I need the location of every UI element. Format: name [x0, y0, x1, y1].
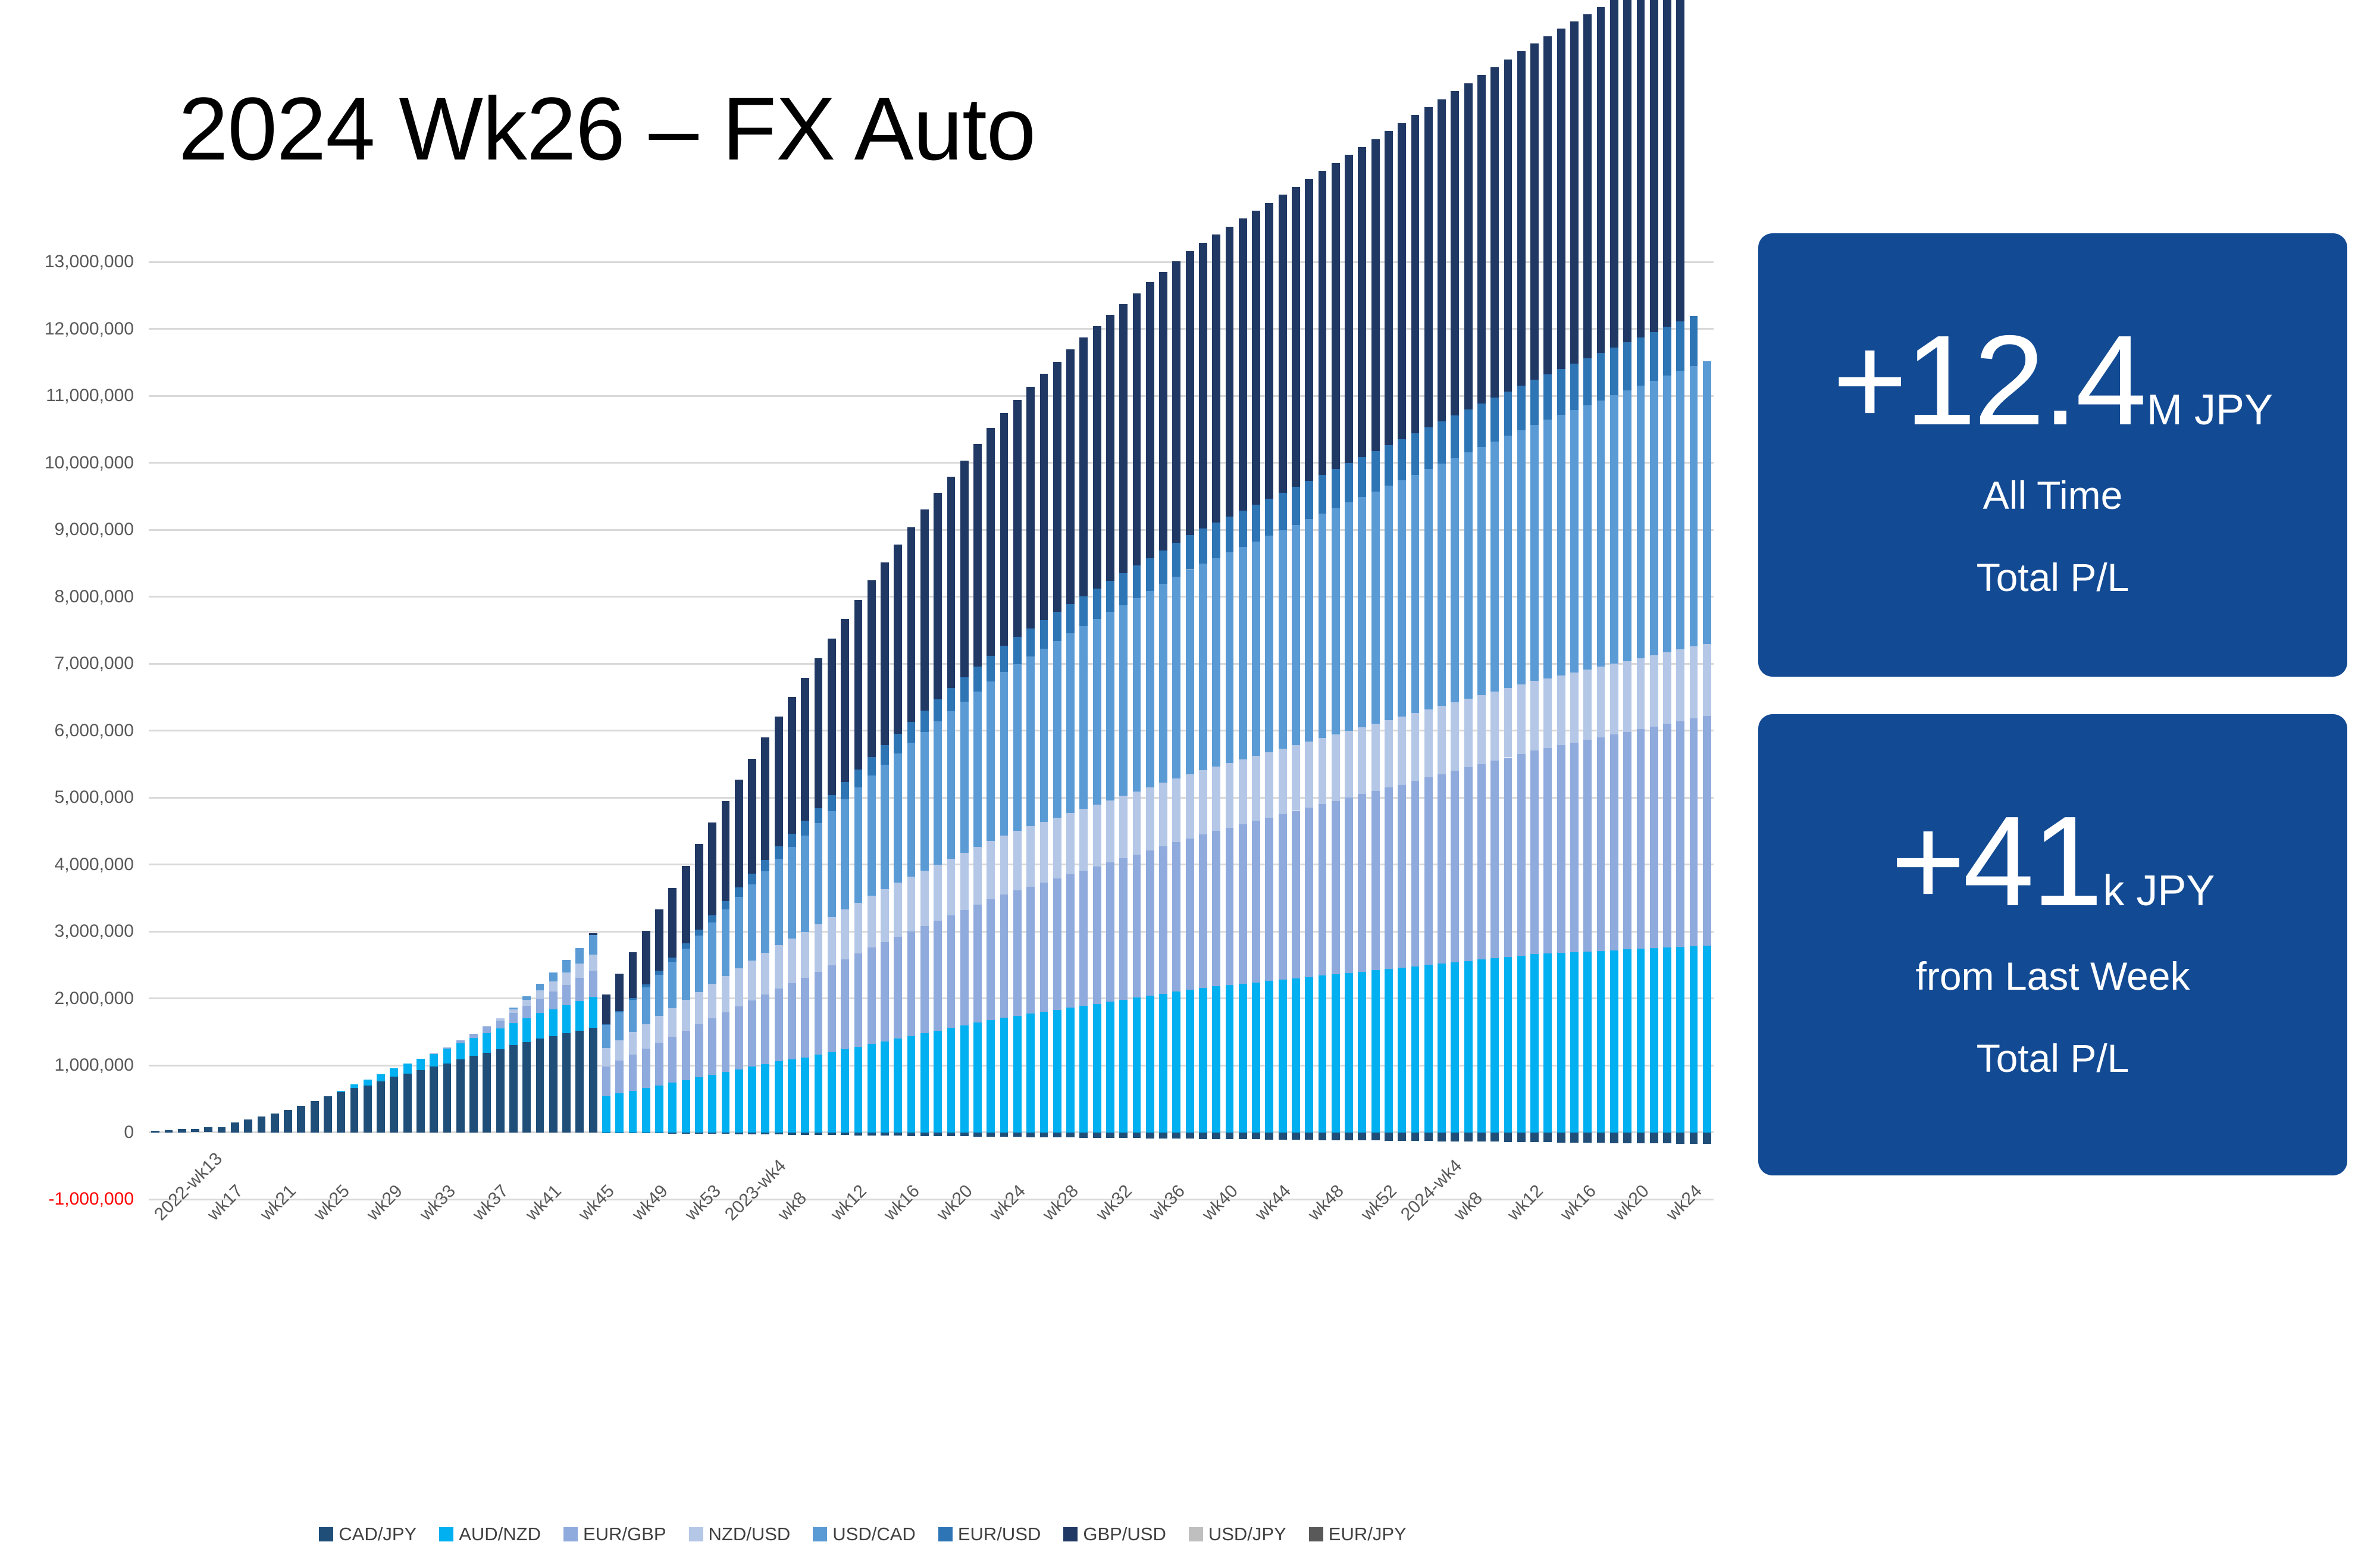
bar-segment	[1570, 743, 1579, 952]
bar-segment	[1637, 0, 1645, 337]
bar-column[interactable]	[947, 262, 956, 1199]
bar-column[interactable]	[1000, 262, 1009, 1199]
legend-item[interactable]: USD/JPY	[1189, 1524, 1286, 1545]
bar-column[interactable]	[1265, 262, 1273, 1199]
bar-segment	[748, 1000, 756, 1067]
bar-column[interactable]	[1345, 262, 1353, 1199]
bar-column[interactable]	[655, 262, 663, 1199]
bar-column[interactable]	[430, 262, 438, 1199]
bar-segment	[801, 978, 809, 1058]
bar-segment	[1676, 371, 1684, 649]
bar-column[interactable]	[258, 262, 266, 1199]
bar-segment	[483, 1053, 491, 1133]
bar-segment	[801, 836, 809, 932]
bar-column[interactable]	[284, 262, 292, 1199]
legend-label: AUD/NZD	[459, 1524, 541, 1545]
bar-segment	[987, 841, 995, 899]
bar-segment	[868, 896, 876, 947]
bar-column[interactable]	[1146, 262, 1154, 1199]
bar-segment	[1133, 293, 1141, 566]
bar-segment	[1650, 655, 1658, 727]
bar-column[interactable]	[1358, 262, 1366, 1199]
kpi-card-last-week[interactable]: +41 k JPY from Last Week Total P/L	[1758, 714, 2347, 1175]
bar-column[interactable]	[1663, 262, 1671, 1199]
bar-segment	[1133, 997, 1141, 1132]
bar-column[interactable]	[1013, 262, 1022, 1199]
bar-segment	[1676, 0, 1684, 321]
bar-column[interactable]	[1477, 262, 1486, 1199]
bar-segment	[1570, 673, 1579, 743]
bar-segment	[1597, 951, 1605, 1133]
bar-column[interactable]	[443, 262, 452, 1199]
bar-column[interactable]	[960, 262, 969, 1199]
legend-item[interactable]: CAD/JPY	[319, 1524, 416, 1545]
bar-segment	[1119, 304, 1128, 573]
bar-column[interactable]	[708, 262, 716, 1199]
bar-column[interactable]	[1106, 262, 1114, 1199]
bar-segment	[1557, 1133, 1565, 1143]
bar-segment	[1013, 664, 1022, 831]
bar-column[interactable]	[761, 262, 769, 1199]
bar-segment	[1703, 644, 1711, 716]
bar-segment	[1490, 958, 1499, 1133]
bar-column[interactable]	[1026, 262, 1035, 1199]
bar-segment	[1424, 107, 1433, 427]
bar-column[interactable]	[549, 262, 558, 1199]
bar-column[interactable]	[337, 262, 345, 1199]
bar-column[interactable]	[509, 262, 518, 1199]
bar-column[interactable]	[1543, 262, 1552, 1199]
bar-segment	[1477, 75, 1486, 403]
bar-column[interactable]	[1650, 262, 1658, 1199]
bar-segment	[629, 1133, 637, 1134]
legend-item[interactable]: EUR/GBP	[563, 1524, 666, 1545]
bar-segment	[416, 1059, 425, 1070]
bar-segment	[1464, 961, 1473, 1133]
bar-column[interactable]	[403, 262, 412, 1199]
bar-segment	[1305, 977, 1313, 1133]
bar-segment	[1663, 652, 1671, 724]
bar-column[interactable]	[1239, 262, 1247, 1199]
bar-segment	[1385, 131, 1393, 445]
bar-column[interactable]	[642, 262, 650, 1199]
bar-segment	[244, 1119, 252, 1132]
bar-segment	[708, 915, 716, 922]
bar-segment	[1226, 517, 1234, 552]
bar-column[interactable]	[1172, 262, 1180, 1199]
bar-segment	[907, 1036, 916, 1133]
bar-segment	[735, 897, 743, 968]
bar-segment	[575, 964, 584, 978]
bar-column[interactable]	[1703, 262, 1711, 1199]
bar-segment	[1252, 756, 1260, 821]
bar-segment	[297, 1106, 305, 1132]
bar-column[interactable]	[602, 262, 610, 1199]
bar-segment	[1610, 1133, 1618, 1143]
bar-segment	[1477, 764, 1486, 960]
bar-segment	[735, 968, 743, 1006]
bar-segment	[1146, 850, 1154, 996]
bar-column[interactable]	[1504, 262, 1512, 1199]
bar-segment	[191, 1129, 199, 1132]
bar-column[interactable]	[987, 262, 995, 1199]
bar-column[interactable]	[1371, 262, 1380, 1199]
bar-segment	[775, 989, 783, 1062]
bar-segment	[1703, 946, 1711, 1133]
bar-segment	[443, 1049, 452, 1063]
bar-column[interactable]	[350, 262, 359, 1199]
bar-segment	[722, 1133, 730, 1134]
bar-segment	[1000, 836, 1009, 895]
bar-column[interactable]	[1424, 262, 1433, 1199]
bar-segment	[602, 1067, 610, 1096]
bar-segment	[1305, 179, 1313, 481]
bar-column[interactable]	[244, 262, 252, 1199]
bar-column[interactable]	[1159, 262, 1167, 1199]
bar-segment	[1530, 43, 1539, 380]
bar-segment	[390, 1068, 398, 1077]
bar-segment	[1040, 822, 1048, 883]
bar-segment	[1464, 409, 1473, 453]
bar-column[interactable]	[1053, 262, 1061, 1199]
bar-segment	[1292, 187, 1300, 487]
bar-column[interactable]	[456, 262, 465, 1199]
bar-column[interactable]	[416, 262, 425, 1199]
bar-column[interactable]	[615, 262, 624, 1199]
bar-segment	[1106, 862, 1114, 1002]
bar-column[interactable]	[1557, 262, 1565, 1199]
bar-segment	[1543, 1133, 1552, 1143]
bar-column[interactable]	[1332, 262, 1340, 1199]
bar-segment	[642, 931, 650, 984]
bar-column[interactable]	[165, 262, 173, 1199]
bar-column[interactable]	[191, 262, 199, 1199]
bar-column[interactable]	[271, 262, 279, 1199]
bar-segment	[1079, 626, 1088, 809]
bar-segment	[1557, 745, 1565, 953]
bar-column[interactable]	[562, 262, 571, 1199]
bar-segment	[1398, 123, 1406, 439]
bar-column[interactable]	[1279, 262, 1287, 1199]
bar-segment	[973, 692, 982, 847]
bar-column[interactable]	[854, 262, 863, 1199]
x-axis: 2022-wk13wk17wk21wk25wk29wk33wk37wk41wk4…	[149, 1202, 1714, 1339]
bar-segment	[1676, 321, 1684, 371]
bar-column[interactable]	[828, 262, 836, 1199]
bar-column[interactable]	[1385, 262, 1393, 1199]
bar-segment	[1345, 502, 1353, 731]
bar-segment	[1570, 21, 1579, 364]
bar-segment	[1623, 732, 1631, 950]
bar-segment	[1451, 962, 1459, 1133]
bar-segment	[602, 1025, 610, 1048]
bar-column[interactable]	[218, 262, 226, 1199]
bar-segment	[1066, 1008, 1075, 1132]
bar-segment	[1186, 990, 1194, 1133]
bar-column[interactable]	[682, 262, 690, 1199]
bar-segment	[1345, 797, 1353, 973]
bar-column[interactable]	[815, 262, 823, 1199]
bar-segment	[1637, 386, 1645, 658]
kpi-value: +41	[1891, 803, 2101, 919]
bar-segment	[509, 1008, 518, 1009]
bar-column[interactable]	[1490, 262, 1499, 1199]
kpi-value-row: +41 k JPY	[1891, 803, 2215, 919]
bar-column[interactable]	[178, 262, 186, 1199]
bar-segment	[377, 1074, 385, 1081]
bar-column[interactable]	[1517, 262, 1526, 1199]
bar-segment	[1292, 745, 1300, 811]
bar-segment	[377, 1081, 385, 1133]
bar-column[interactable]	[1252, 262, 1260, 1199]
bar-column[interactable]	[1530, 262, 1539, 1199]
bar-segment	[509, 1009, 518, 1014]
bar-segment	[655, 1043, 663, 1086]
bar-segment	[960, 1133, 969, 1137]
legend-item[interactable]: GBP/USD	[1063, 1524, 1166, 1545]
bar-column[interactable]	[748, 262, 756, 1199]
bar-segment	[987, 428, 995, 656]
bar-segment	[1583, 1133, 1592, 1143]
bar-segment	[655, 975, 663, 1017]
bar-column[interactable]	[1610, 262, 1618, 1199]
bar-segment	[549, 972, 558, 982]
bar-column[interactable]	[1079, 262, 1088, 1199]
bar-column[interactable]	[151, 262, 159, 1199]
bar-segment	[1570, 410, 1579, 673]
bar-segment	[1543, 36, 1552, 374]
bar-column[interactable]	[575, 262, 584, 1199]
bar-segment	[403, 1074, 412, 1133]
bar-segment	[1424, 777, 1433, 965]
bar-segment	[708, 1018, 716, 1075]
bar-segment	[788, 1059, 796, 1133]
bar-segment	[1026, 628, 1035, 656]
bar-segment	[1093, 326, 1101, 589]
bar-column[interactable]	[589, 262, 597, 1199]
bar-column[interactable]	[1690, 262, 1698, 1199]
bar-segment	[1411, 1133, 1420, 1141]
bar-segment	[1026, 1133, 1035, 1137]
bar-segment	[1451, 415, 1459, 458]
bar-column[interactable]	[629, 262, 637, 1199]
bar-segment	[1199, 988, 1207, 1133]
bar-column[interactable]	[907, 262, 916, 1199]
bar-segment	[1053, 1010, 1061, 1133]
bar-segment	[708, 1133, 716, 1134]
bar-segment	[1053, 1133, 1061, 1138]
bar-segment	[748, 884, 756, 961]
bar-column[interactable]	[722, 262, 730, 1199]
bar-segment	[1265, 1133, 1273, 1140]
bar-segment	[907, 722, 916, 743]
bar-segment	[522, 1000, 531, 1006]
bar-column[interactable]	[536, 262, 544, 1199]
bar-segment	[1490, 692, 1499, 761]
legend-item[interactable]: USD/CAD	[813, 1524, 916, 1545]
bar-segment	[1133, 792, 1141, 855]
bar-segment	[1013, 1016, 1022, 1133]
bar-segment	[1570, 1133, 1579, 1143]
bar-column[interactable]	[1066, 262, 1075, 1199]
legend-item[interactable]: EUR/USD	[938, 1524, 1041, 1545]
page-title: 2024 Wk26 – FX Auto	[178, 77, 1035, 180]
bar-segment	[1292, 978, 1300, 1133]
legend-item[interactable]: NZD/USD	[689, 1524, 791, 1545]
bar-column[interactable]	[297, 262, 305, 1199]
bar-column[interactable]	[1199, 262, 1207, 1199]
bar-segment	[1676, 649, 1684, 721]
bar-column[interactable]	[231, 262, 239, 1199]
bar-segment	[1676, 721, 1684, 947]
bar-column[interactable]	[1583, 262, 1592, 1199]
bar-segment	[1517, 51, 1526, 385]
bar-segment	[775, 859, 783, 945]
bar-segment	[1398, 1133, 1406, 1141]
legend-item[interactable]: AUD/NZD	[439, 1524, 541, 1545]
bar-segment	[1438, 99, 1446, 421]
bar-segment	[841, 619, 849, 783]
bar-segment	[1371, 139, 1380, 451]
bar-segment	[947, 1133, 956, 1137]
bar-segment	[788, 697, 796, 834]
bar-column[interactable]	[695, 262, 703, 1199]
bar-series-container	[149, 262, 1714, 1199]
bar-column[interactable]	[1133, 262, 1141, 1199]
bar-column[interactable]	[1319, 262, 1327, 1199]
bar-column[interactable]	[204, 262, 212, 1199]
bar-segment	[1557, 29, 1565, 369]
bar-column[interactable]	[377, 262, 385, 1199]
bar-segment	[881, 745, 889, 764]
bar-column[interactable]	[1093, 262, 1101, 1199]
bar-segment	[1663, 947, 1671, 1133]
bar-segment	[1597, 737, 1605, 951]
bar-column[interactable]	[469, 262, 478, 1199]
bar-segment	[1212, 1133, 1220, 1139]
bar-segment	[1146, 558, 1154, 591]
bar-segment	[430, 1053, 438, 1054]
bar-column[interactable]	[881, 262, 889, 1199]
bar-segment	[1252, 983, 1260, 1133]
bar-segment	[1583, 405, 1592, 670]
bar-column[interactable]	[1411, 262, 1420, 1199]
bar-segment	[987, 681, 995, 841]
kpi-value: +12.4	[1833, 323, 2144, 438]
bar-column[interactable]	[973, 262, 982, 1199]
bar-segment	[1597, 667, 1605, 737]
bar-segment	[1239, 218, 1247, 511]
bar-segment	[364, 1086, 372, 1133]
bar-segment	[1186, 535, 1194, 570]
bar-segment	[668, 888, 677, 958]
bar-segment	[907, 743, 916, 877]
bar-column[interactable]	[1305, 262, 1313, 1199]
legend-swatch-icon	[1063, 1527, 1078, 1541]
bar-segment	[682, 949, 690, 1000]
bar-segment	[960, 853, 969, 910]
bar-column[interactable]	[1398, 262, 1406, 1199]
bar-column[interactable]	[1119, 262, 1128, 1199]
bar-segment	[1411, 967, 1420, 1133]
bar-column[interactable]	[801, 262, 809, 1199]
bar-column[interactable]	[496, 262, 505, 1199]
bar-segment	[788, 847, 796, 939]
bar-column[interactable]	[364, 262, 372, 1199]
bar-segment	[1663, 1133, 1671, 1144]
bar-column[interactable]	[1464, 262, 1473, 1199]
bar-column[interactable]	[894, 262, 902, 1199]
bar-column[interactable]	[735, 262, 743, 1199]
bar-column[interactable]	[1597, 262, 1605, 1199]
bar-column[interactable]	[934, 262, 942, 1199]
bar-segment	[615, 974, 624, 1011]
bar-segment	[1079, 1133, 1088, 1138]
bar-column[interactable]	[311, 262, 319, 1199]
bar-column[interactable]	[920, 262, 929, 1199]
bar-segment	[1332, 734, 1340, 801]
bar-column[interactable]	[868, 262, 876, 1199]
bar-column[interactable]	[1186, 262, 1194, 1199]
bar-segment	[1106, 315, 1114, 581]
bar-column[interactable]	[668, 262, 677, 1199]
bar-segment	[1490, 761, 1499, 958]
bar-segment	[1358, 727, 1366, 794]
bar-column[interactable]	[1637, 262, 1645, 1199]
y-axis-tick-label: 2,000,000	[0, 989, 134, 1009]
bar-segment	[973, 444, 982, 667]
bar-column[interactable]	[1040, 262, 1048, 1199]
bar-segment	[642, 987, 650, 1024]
bar-segment	[801, 1133, 809, 1135]
bar-segment	[549, 1036, 558, 1133]
bar-segment	[1212, 558, 1220, 767]
bar-column[interactable]	[390, 262, 398, 1199]
bar-segment	[1013, 400, 1022, 637]
bar-column[interactable]	[1570, 262, 1579, 1199]
bar-column[interactable]	[1226, 262, 1234, 1199]
legend-swatch-icon	[319, 1527, 333, 1541]
bar-column[interactable]	[1676, 262, 1684, 1199]
bar-segment	[1000, 646, 1009, 672]
bar-segment	[722, 1012, 730, 1072]
bar-column[interactable]	[1623, 262, 1631, 1199]
kpi-card-all-time[interactable]: +12.4 M JPY All Time Total P/L	[1758, 233, 2347, 677]
legend-item[interactable]: EUR/JPY	[1309, 1524, 1407, 1545]
bar-column[interactable]	[788, 262, 796, 1199]
bar-column[interactable]	[483, 262, 491, 1199]
bar-column[interactable]	[1212, 262, 1220, 1199]
bar-segment	[496, 1021, 505, 1029]
bar-column[interactable]	[841, 262, 849, 1199]
bar-segment	[1119, 796, 1128, 858]
bar-segment	[615, 1061, 624, 1093]
bar-segment	[695, 844, 703, 930]
bar-segment	[1570, 952, 1579, 1133]
bar-column[interactable]	[522, 262, 531, 1199]
bar-segment	[1530, 681, 1539, 750]
bar-column[interactable]	[324, 262, 332, 1199]
bar-column[interactable]	[1451, 262, 1459, 1199]
bar-segment	[575, 978, 584, 1001]
bar-column[interactable]	[1438, 262, 1446, 1199]
bar-segment	[1623, 0, 1631, 342]
bar-segment	[1093, 867, 1101, 1004]
bar-column[interactable]	[1292, 262, 1300, 1199]
bar-segment	[337, 1092, 345, 1133]
bar-column[interactable]	[775, 262, 783, 1199]
bar-segment	[934, 865, 942, 921]
